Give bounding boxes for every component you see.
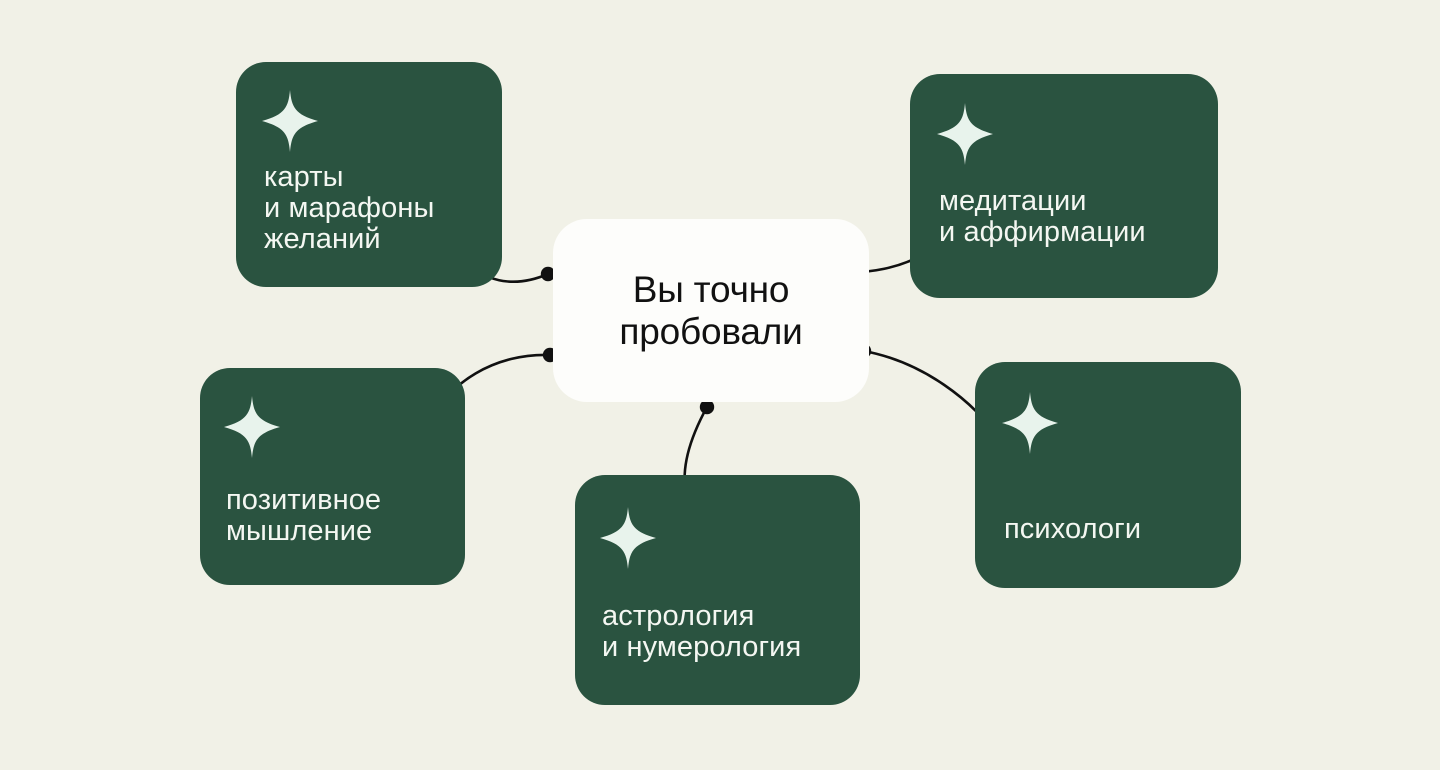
sparkle-icon bbox=[600, 507, 656, 569]
sparkle-icon bbox=[262, 90, 318, 152]
card-label: астрология и нумерология bbox=[602, 601, 801, 663]
center-card-title: Вы точно пробовали bbox=[619, 269, 802, 352]
card-label: позитивное мышление bbox=[226, 485, 381, 547]
sparkle-icon bbox=[937, 103, 993, 165]
sparkle-icon bbox=[1002, 392, 1058, 454]
card-label: медитации и аффирмации bbox=[939, 186, 1146, 248]
card-positive-thinking[interactable]: позитивное мышление bbox=[200, 368, 465, 585]
diagram-canvas: карты и марафоны желаниймедитации и аффи… bbox=[0, 0, 1440, 770]
card-meditations-and-affirmations[interactable]: медитации и аффирмации bbox=[910, 74, 1218, 298]
card-astrology-and-numerology[interactable]: астрология и нумерология bbox=[575, 475, 860, 705]
card-psychologists[interactable]: психологи bbox=[975, 362, 1241, 588]
card-cards-and-marathons[interactable]: карты и марафоны желаний bbox=[236, 62, 502, 287]
sparkle-icon bbox=[224, 396, 280, 458]
card-label: психологи bbox=[1004, 514, 1141, 545]
card-label: карты и марафоны желаний bbox=[264, 162, 434, 255]
center-card[interactable]: Вы точно пробовали bbox=[553, 219, 869, 402]
